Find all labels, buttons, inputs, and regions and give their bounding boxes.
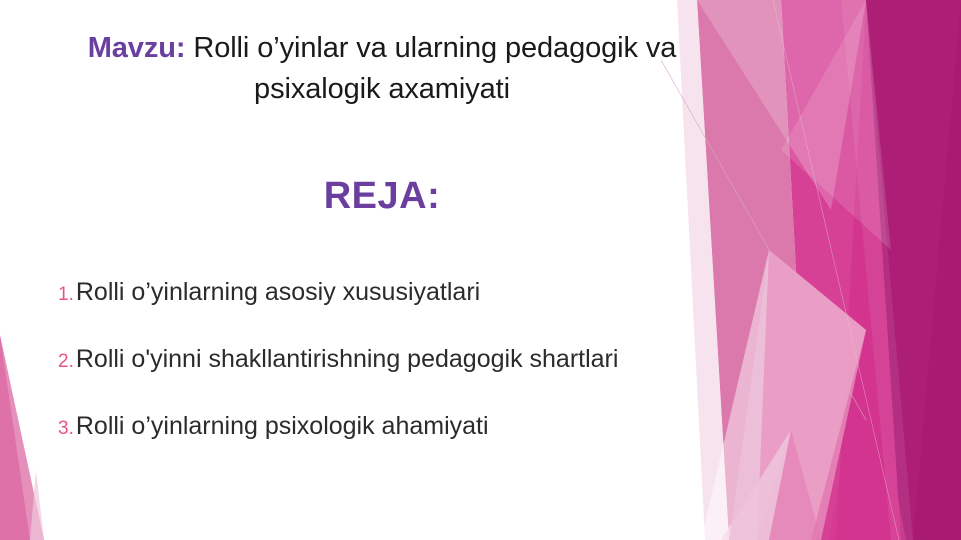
list-item: 3. Rolli o’yinlarning psixologik ahamiya…	[58, 412, 858, 441]
slide-title: Mavzu: Rolli o’yinlar va ularning pedago…	[52, 28, 712, 111]
list-item-number: 3.	[58, 418, 74, 440]
list-item-label: Rolli o’yinlarning asosiy xususiyatlari	[76, 278, 480, 307]
title-label-rest: Rolli o’yinlar va ularning pedagogik va …	[185, 32, 676, 105]
list-item-number: 2.	[58, 351, 74, 373]
slide-canvas: Mavzu: Rolli o’yinlar va ularning pedago…	[0, 0, 961, 540]
agenda-heading: REJA:	[52, 175, 712, 218]
list-item-label: Rolli o’yinlarning psixologik ahamiyati	[76, 412, 489, 441]
list-item: 2. Rolli o'yinni shakllantirishning peda…	[58, 345, 858, 374]
list-item: 1. Rolli o’yinlarning asosiy xususiyatla…	[58, 278, 858, 307]
list-item-label: Rolli o'yinni shakllantirishning pedagog…	[76, 345, 619, 374]
title-label-prefix: Mavzu:	[88, 32, 186, 64]
list-item-number: 1.	[58, 284, 74, 306]
agenda-list: 1. Rolli o’yinlarning asosiy xususiyatla…	[58, 278, 858, 441]
